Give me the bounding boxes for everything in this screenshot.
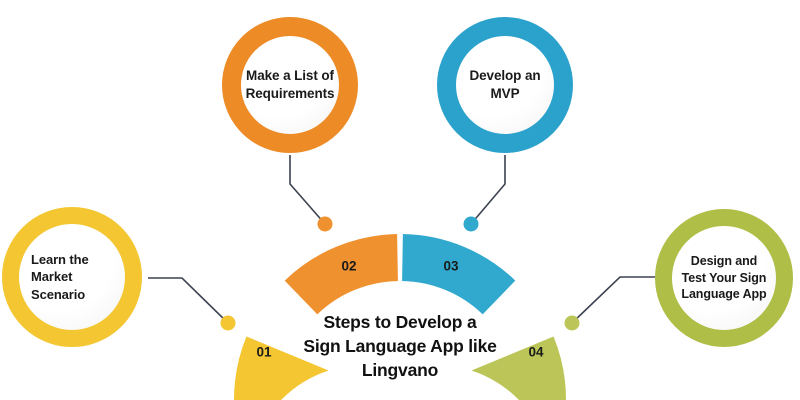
bubble-requirements-line-1: Make a List of xyxy=(246,67,335,85)
connector-line-02 xyxy=(290,155,325,224)
infographic-canvas: 01 02 03 04 Steps to Develop a Sign Lang… xyxy=(0,0,800,400)
donut-segment-01-number: 01 xyxy=(256,345,272,360)
donut-center-title-line-2: Sign Language App like xyxy=(282,334,518,358)
connector-03 xyxy=(464,155,506,232)
connector-line-01 xyxy=(148,278,228,323)
bubble-develop-an-mvp[interactable]: Develop an MVP xyxy=(437,17,573,153)
connector-04 xyxy=(565,277,656,331)
connector-02 xyxy=(290,155,333,232)
donut-center-title-line-1: Steps to Develop a xyxy=(282,310,518,334)
bubble-make-a-list-of-requirements[interactable]: Make a List of Requirements xyxy=(222,17,358,153)
bubble-mvp-line-2: MVP xyxy=(469,85,540,103)
bubble-market-line-3: Scenario xyxy=(31,286,117,303)
connector-dot-03 xyxy=(464,217,479,232)
bubble-design-and-test-your-sign-language-app[interactable]: Design and Test Your Sign Language App xyxy=(655,209,793,347)
connector-01 xyxy=(148,278,236,331)
bubble-mvp-line-1: Develop an xyxy=(469,67,540,85)
donut-segment-03-number: 03 xyxy=(443,259,459,274)
connector-dot-04 xyxy=(565,316,580,331)
donut-segment-03[interactable]: 03 xyxy=(402,234,515,314)
connector-line-04 xyxy=(572,277,655,323)
donut-segment-02-shape[interactable] xyxy=(285,234,398,314)
donut-segment-03-shape[interactable] xyxy=(402,234,515,314)
bubble-requirements-label: Make a List of Requirements xyxy=(246,67,335,103)
connector-dot-02 xyxy=(318,217,333,232)
bubble-requirements-line-2: Requirements xyxy=(246,85,335,103)
bubble-design-line-1: Design and xyxy=(681,253,766,270)
donut-center-title: Steps to Develop a Sign Language App lik… xyxy=(282,310,518,382)
bubble-mvp-label: Develop an MVP xyxy=(469,67,540,103)
bubble-market-line-1: Learn the xyxy=(31,251,117,268)
bubble-design-label: Design and Test Your Sign Language App xyxy=(681,253,766,303)
donut-segment-04-number: 04 xyxy=(528,345,544,360)
donut-center-title-line-3: Lingvano xyxy=(282,358,518,382)
bubble-market-label: Learn the Market Scenario xyxy=(31,251,117,302)
bubble-market-line-2: Market xyxy=(31,268,117,285)
connector-line-03 xyxy=(471,155,505,224)
connector-dot-01 xyxy=(221,316,236,331)
bubble-design-line-2: Test Your Sign xyxy=(681,270,766,287)
donut-segment-02[interactable]: 02 xyxy=(285,234,398,314)
donut-segment-02-number: 02 xyxy=(341,259,356,274)
bubble-design-line-3: Language App xyxy=(681,286,766,303)
bubble-learn-the-market-scenario[interactable]: Learn the Market Scenario xyxy=(2,207,142,347)
